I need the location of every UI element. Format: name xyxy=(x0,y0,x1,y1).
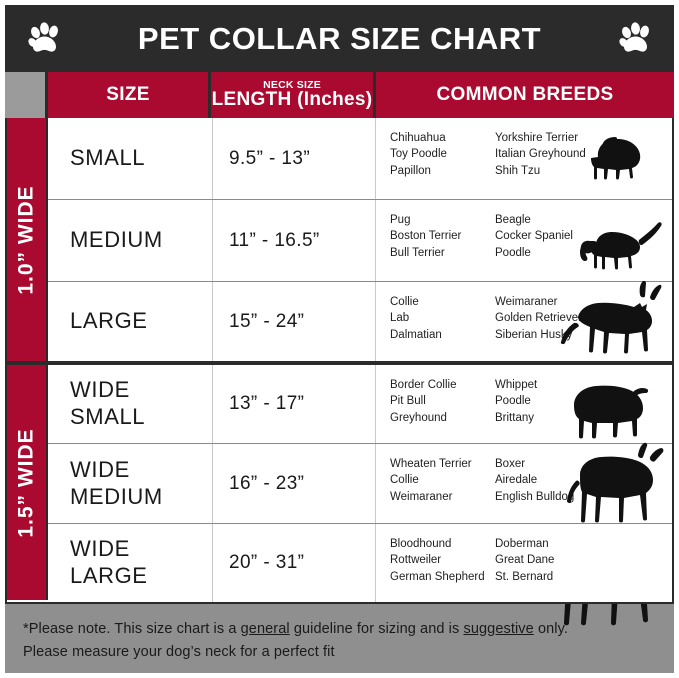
cell-breeds: Collie Lab Dalmatian Weimaraner Golden R… xyxy=(376,282,672,361)
footer-emphasis-general: general xyxy=(241,621,290,637)
breed-item: Lab xyxy=(390,310,495,326)
breed-column-1: Border Collie Pit Bull Greyhound xyxy=(390,377,495,443)
breed-item: Greyhound xyxy=(390,410,495,426)
table-header-row: SIZE NECK SIZE LENGTH (Inches) COMMON BR… xyxy=(5,72,674,118)
cell-breeds: Border Collie Pit Bull Greyhound Whippet… xyxy=(376,365,672,443)
table-row[interactable]: WIDE MEDIUM 16” - 23” Wheaten Terrier Co… xyxy=(48,444,672,523)
footer-line-1: *Please note. This size chart is a gener… xyxy=(23,618,674,641)
breed-column-1: Collie Lab Dalmatian xyxy=(390,294,495,361)
footer-note: *Please note. This size chart is a gener… xyxy=(5,604,674,673)
breed-column-1: Wheaten Terrier Collie Weimaraner xyxy=(390,456,495,523)
paw-print-icon xyxy=(23,18,65,60)
rows-container: SMALL 9.5” - 13” Chihuahua Toy Poodle Pa… xyxy=(48,118,672,602)
breed-item: Toy Poodle xyxy=(390,146,495,162)
breed-item: Rottweiler xyxy=(390,552,495,568)
header-breeds-label: COMMON BREEDS xyxy=(436,85,613,105)
page-title: PET COLLAR SIZE CHART xyxy=(138,21,541,57)
title-bar: PET COLLAR SIZE CHART xyxy=(5,5,674,72)
cell-size: WIDE SMALL xyxy=(48,365,213,443)
cell-breeds: Bloodhound Rottweiler German Shepherd Do… xyxy=(376,524,672,602)
breed-column-1: Bloodhound Rottweiler German Shepherd xyxy=(390,536,495,602)
section-label-1-5-wide: 1.5” WIDE xyxy=(7,365,48,600)
breed-column-1: Pug Boston Terrier Bull Terrier xyxy=(390,212,495,281)
footer-emphasis-suggestive: suggestive xyxy=(463,621,533,637)
cell-length: 15” - 24” xyxy=(213,282,376,361)
breed-column-1: Chihuahua Toy Poodle Papillon xyxy=(390,130,495,199)
pet-collar-size-chart: PET COLLAR SIZE CHART SIZE NECK SIZE LEN… xyxy=(0,0,679,678)
header-length-label: LENGTH (Inches) xyxy=(212,90,373,110)
pomeranian-silhouette xyxy=(578,131,660,187)
size-line: WIDE xyxy=(70,457,212,484)
size-line: SMALL xyxy=(70,404,212,431)
size-line: LARGE xyxy=(70,563,212,590)
cell-breeds: Chihuahua Toy Poodle Papillon Yorkshire … xyxy=(376,118,672,199)
table-row[interactable]: SMALL 9.5” - 13” Chihuahua Toy Poodle Pa… xyxy=(48,118,672,199)
cell-size: LARGE xyxy=(48,282,213,361)
bulldog-silhouette xyxy=(560,373,650,439)
breed-item: Weimaraner xyxy=(390,489,495,505)
section-label-1-0-wide: 1.0” WIDE xyxy=(7,118,48,361)
size-line: LARGE xyxy=(70,308,212,335)
header-breeds: COMMON BREEDS xyxy=(376,72,674,118)
cell-breeds: Wheaten Terrier Collie Weimaraner Boxer … xyxy=(376,444,672,523)
table-body: 1.0” WIDE 1.5” WIDE SMALL 9.5” - 13” Chi… xyxy=(5,118,674,604)
paw-print-icon xyxy=(614,18,656,60)
breed-item: Papillon xyxy=(390,163,495,179)
footer-text: only. xyxy=(534,621,568,637)
breed-item: Doberman xyxy=(495,536,615,552)
cell-length: 11” - 16.5” xyxy=(213,200,376,281)
breed-item: Bull Terrier xyxy=(390,245,495,261)
breed-item: St. Bernard xyxy=(495,569,615,585)
footer-text: guideline for sizing and is xyxy=(290,621,464,637)
breed-item: Collie xyxy=(390,472,495,488)
header-size-label: SIZE xyxy=(106,85,149,105)
boxer-silhouette xyxy=(560,441,664,523)
size-line: WIDE xyxy=(70,536,212,563)
beagle-silhouette xyxy=(566,215,666,273)
breed-item: German Shepherd xyxy=(390,569,495,585)
footer-text: *Please note. This size chart is a xyxy=(23,621,241,637)
footer-line-2: Please measure your dog’s neck for a per… xyxy=(23,641,674,664)
breed-item: Border Collie xyxy=(390,377,495,393)
size-line: WIDE xyxy=(70,377,212,404)
breed-item: Pit Bull xyxy=(390,393,495,409)
header-length: NECK SIZE LENGTH (Inches) xyxy=(211,72,376,118)
cell-length: 9.5” - 13” xyxy=(213,118,376,199)
table-row[interactable]: LARGE 15” - 24” Collie Lab Dalmatian Wei… xyxy=(48,282,672,361)
breed-item: Great Dane xyxy=(495,552,615,568)
breed-item: Dalmatian xyxy=(390,327,495,343)
cell-length: 16” - 23” xyxy=(213,444,376,523)
table-row[interactable]: WIDE SMALL 13” - 17” Border Collie Pit B… xyxy=(48,365,672,443)
cell-breeds: Pug Boston Terrier Bull Terrier Beagle C… xyxy=(376,200,672,281)
breed-item: Wheaten Terrier xyxy=(390,456,495,472)
breed-item: Chihuahua xyxy=(390,130,495,146)
cell-length: 20” - 31” xyxy=(213,524,376,602)
size-line: SMALL xyxy=(70,145,212,172)
cell-size: WIDE MEDIUM xyxy=(48,444,213,523)
cell-size: MEDIUM xyxy=(48,200,213,281)
size-line: MEDIUM xyxy=(70,227,212,254)
header-size: SIZE xyxy=(48,72,211,118)
size-line: MEDIUM xyxy=(70,484,212,511)
cell-size: SMALL xyxy=(48,118,213,199)
breed-column-2: Doberman Great Dane St. Bernard xyxy=(495,536,615,602)
cell-length: 13” - 17” xyxy=(213,365,376,443)
shepherd-silhouette xyxy=(560,281,668,357)
breed-item: Bloodhound xyxy=(390,536,495,552)
header-corner-cell xyxy=(5,72,48,118)
breed-item: Collie xyxy=(390,294,495,310)
cell-size: WIDE LARGE xyxy=(48,524,213,602)
breed-item: Pug xyxy=(390,212,495,228)
table-row[interactable]: MEDIUM 11” - 16.5” Pug Boston Terrier Bu… xyxy=(48,200,672,281)
breed-item: Boston Terrier xyxy=(390,228,495,244)
table-row[interactable]: WIDE LARGE 20” - 31” Bloodhound Rottweil… xyxy=(48,524,672,602)
